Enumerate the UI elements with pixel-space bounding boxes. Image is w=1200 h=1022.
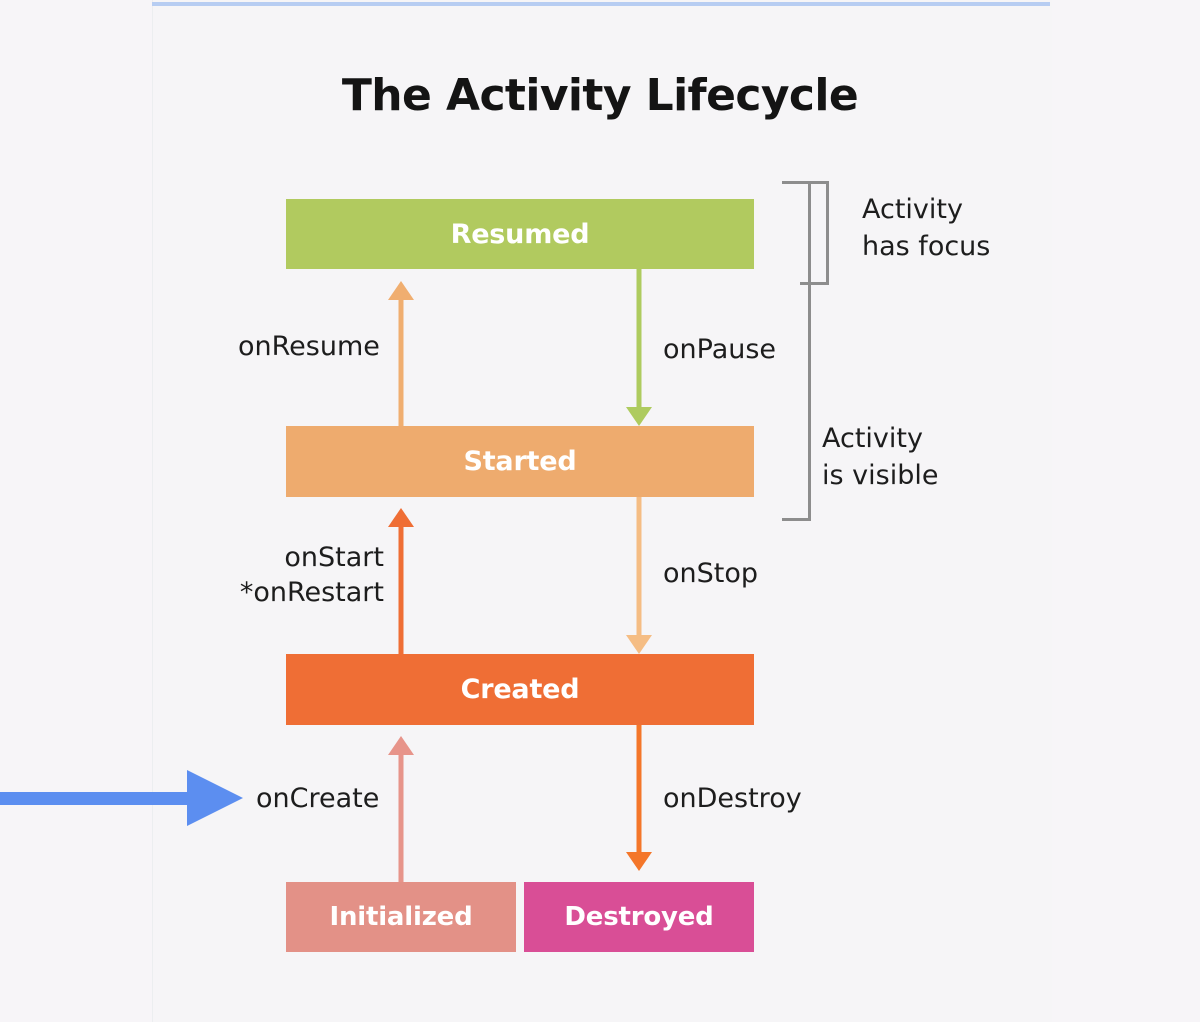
arrow-shaft — [399, 524, 404, 654]
arrow-onstart-icon — [388, 508, 414, 654]
transition-label-oncreate: onCreate — [256, 782, 379, 817]
arrow-onpause-icon — [626, 269, 652, 426]
arrow-shaft — [399, 752, 404, 882]
arrow-shaft — [637, 725, 642, 855]
annotation-arrowhead-right-icon — [187, 770, 243, 826]
transition-label-onpause: onPause — [663, 333, 776, 368]
arrow-oncreate-icon — [388, 736, 414, 882]
bracket-is-visible — [782, 181, 811, 521]
state-label-initialized: Initialized — [330, 902, 473, 932]
transition-label-ondestroy: onDestroy — [663, 782, 802, 817]
state-box-resumed[interactable]: Resumed — [286, 199, 754, 269]
state-label-created: Created — [461, 674, 580, 705]
arrow-onresume-icon — [388, 281, 414, 426]
state-box-destroyed[interactable]: Destroyed — [524, 882, 754, 952]
arrowhead-down-icon — [626, 852, 652, 871]
arrow-onstop-icon — [626, 497, 652, 654]
arrowhead-down-icon — [626, 635, 652, 654]
top-rule-divider — [152, 2, 1050, 6]
annotation-arrow-shaft — [0, 792, 196, 805]
transition-label-onstart: onStart *onRestart — [232, 541, 384, 610]
arrow-shaft — [637, 497, 642, 638]
state-box-initialized[interactable]: Initialized — [286, 882, 516, 952]
arrowhead-down-icon — [626, 407, 652, 426]
transition-label-onresume: onResume — [238, 330, 380, 365]
bracket-label-is-visible: Activity is visible — [822, 421, 938, 494]
state-label-started: Started — [463, 446, 576, 477]
transition-label-onstop: onStop — [663, 557, 758, 592]
state-box-started[interactable]: Started — [286, 426, 754, 497]
state-label-destroyed: Destroyed — [564, 902, 713, 932]
arrow-ondestroy-icon — [626, 725, 652, 871]
state-label-resumed: Resumed — [451, 219, 590, 250]
arrow-shaft — [637, 269, 642, 410]
diagram-canvas: The Activity Lifecycle Resumed Started C… — [0, 0, 1200, 1022]
bracket-label-has-focus: Activity has focus — [862, 192, 990, 265]
arrow-shaft — [399, 297, 404, 426]
annotation-pointer-arrow-icon — [0, 770, 243, 826]
page-title: The Activity Lifecycle — [0, 74, 1200, 118]
state-box-created[interactable]: Created — [286, 654, 754, 725]
page-sheet — [152, 0, 1052, 1022]
